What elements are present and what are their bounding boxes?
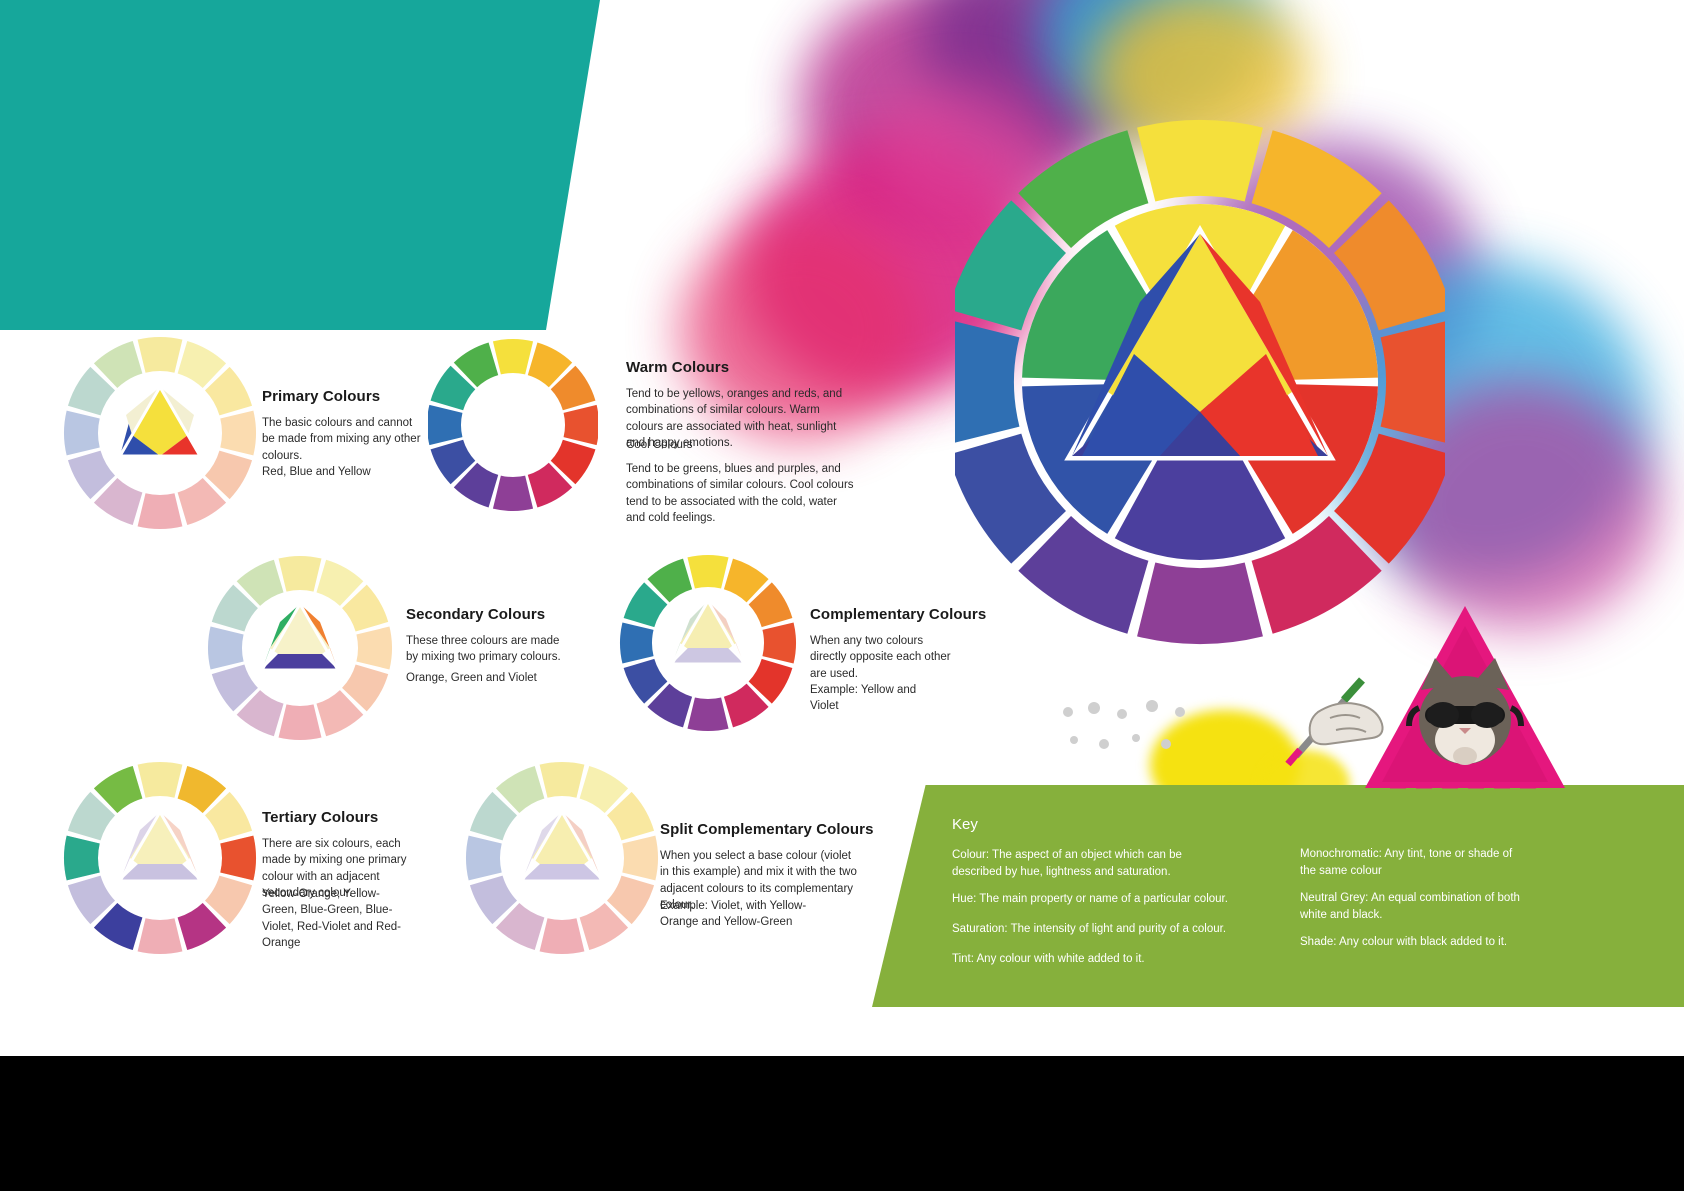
tertiary-title: Tertiary Colours	[262, 809, 378, 826]
dot-pattern	[1060, 700, 1200, 760]
key-item-hue: Hue: The main property or name of a part…	[952, 891, 1252, 908]
key-item-colour: Colour: The aspect of an object which ca…	[952, 847, 1192, 880]
complementary-body: When any two colours directly opposite e…	[810, 633, 960, 682]
header-panel	[0, 0, 600, 330]
key-item-shade: Shade: Any colour with black added to it…	[1300, 934, 1540, 951]
secondary-example: Orange, Green and Violet	[406, 670, 596, 686]
tertiary-wheel	[60, 758, 260, 958]
primary-wheel	[60, 333, 260, 533]
secondary-title: Secondary Colours	[406, 606, 545, 623]
cool-subtitle: Cool Colours	[626, 437, 858, 453]
split-complementary-title: Split Complementary Colours	[660, 821, 874, 838]
key-title: Key	[952, 816, 978, 833]
key-item-saturation: Saturation: The intensity of light and p…	[952, 921, 1252, 938]
warm-title: Warm Colours	[626, 359, 729, 376]
primary-example: Red, Blue and Yellow	[262, 464, 442, 480]
cool-body: Tend to be greens, blues and purples, an…	[626, 461, 858, 526]
key-item-tint: Tint: Any colour with white added to it.	[952, 951, 1252, 968]
warm-cool-wheel	[428, 333, 598, 518]
split-complementary-wheel	[462, 758, 662, 958]
complementary-wheel	[618, 553, 798, 733]
complementary-example: Example: Yellow and Violet	[810, 682, 940, 715]
secondary-wheel	[205, 553, 395, 743]
poster-root: COLOUR THEORY Colour theory was establis…	[0, 0, 1684, 1191]
primary-body: The basic colours and cannot be made fro…	[262, 415, 422, 464]
main-colour-wheel	[955, 110, 1445, 655]
key-item-monochromatic: Monochromatic: Any tint, tone or shade o…	[1300, 846, 1528, 879]
tertiary-example: Yellow-Orange, Yellow-Green, Blue-Green,…	[262, 886, 402, 951]
footer-bar	[0, 1056, 1684, 1191]
key-item-neutral-grey: Neutral Grey: An equal combination of bo…	[1300, 890, 1522, 923]
primary-title: Primary Colours	[262, 388, 380, 405]
split-complementary-example: Example: Violet, with Yellow-Orange and …	[660, 898, 825, 931]
hand-paintbrush-icon	[1258, 660, 1388, 770]
secondary-body: These three colours are made by mixing t…	[406, 633, 566, 666]
